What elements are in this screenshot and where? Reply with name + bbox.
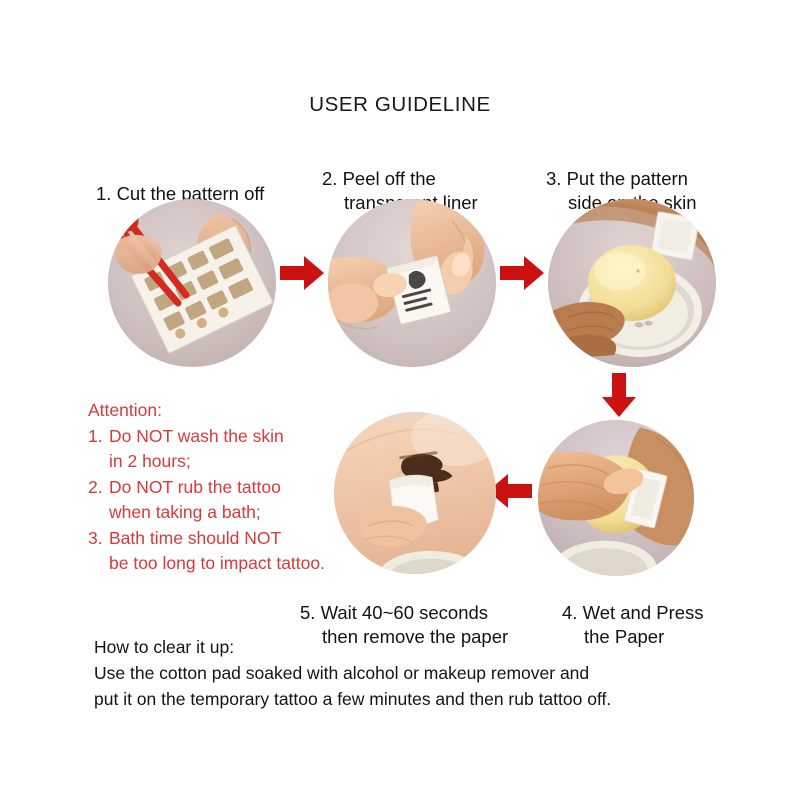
attention-item-2-line1: Do NOT rub the tattoo — [109, 477, 281, 497]
guideline-poster: USER GUIDELINE 1. Cut the pattern off — [0, 0, 800, 800]
step-2-illustration — [328, 199, 496, 367]
step-5-caption-line1: 5. Wait 40~60 seconds — [300, 602, 488, 623]
arrow-step1-to-step2 — [280, 256, 324, 290]
step-5-photo — [334, 412, 496, 574]
attention-list: 1. Do NOT wash the skin in 2 hours; 2. D… — [88, 424, 353, 577]
cleanup-heading: How to clear it up: — [94, 634, 734, 660]
arrow-step3-to-step4 — [602, 373, 636, 417]
arrow-right-icon — [280, 256, 324, 290]
attention-item-1-line1: Do NOT wash the skin — [109, 426, 284, 446]
page-title: USER GUIDELINE — [0, 93, 800, 117]
step-3-caption-line1: 3. Put the pattern — [546, 168, 688, 189]
attention-item-3-number: 3. — [88, 526, 103, 552]
step-2-caption-line1: 2. Peel off the — [322, 168, 436, 189]
step-4-illustration — [538, 420, 694, 576]
attention-item-2-number: 2. — [88, 475, 103, 501]
arrow-down-icon — [602, 373, 636, 417]
step-4-caption-line1: 4. Wet and Press — [562, 602, 704, 623]
cleanup-line1: Use the cotton pad soaked with alcohol o… — [94, 660, 734, 686]
attention-item-1-line2: in 2 hours; — [109, 451, 191, 471]
step-1-photo — [108, 199, 276, 367]
arrow-step2-to-step3 — [500, 256, 544, 290]
step-1-caption: 1. Cut the pattern off — [96, 158, 316, 206]
attention-block: Attention: 1. Do NOT wash the skin in 2 … — [88, 398, 353, 577]
attention-heading: Attention: — [88, 398, 353, 424]
cleanup-line2: put it on the temporary tattoo a few min… — [94, 686, 734, 712]
attention-item-2: 2. Do NOT rub the tattoo when taking a b… — [88, 475, 353, 526]
step-4-photo — [538, 420, 694, 576]
attention-item-3: 3. Bath time should NOT be too long to i… — [88, 526, 353, 577]
arrow-right-icon — [500, 256, 544, 290]
step-3-illustration — [548, 199, 716, 367]
attention-item-3-line2: be too long to impact tattoo. — [109, 553, 325, 573]
step-2-photo — [328, 199, 496, 367]
attention-item-2-line2: when taking a bath; — [109, 502, 261, 522]
step-5-illustration — [334, 412, 496, 574]
cleanup-instructions: How to clear it up: Use the cotton pad s… — [94, 634, 734, 712]
attention-item-3-line1: Bath time should NOT — [109, 528, 281, 548]
step-1-illustration — [108, 199, 276, 367]
attention-item-1-number: 1. — [88, 424, 103, 450]
step-3-photo — [548, 199, 716, 367]
attention-item-1: 1. Do NOT wash the skin in 2 hours; — [88, 424, 353, 475]
